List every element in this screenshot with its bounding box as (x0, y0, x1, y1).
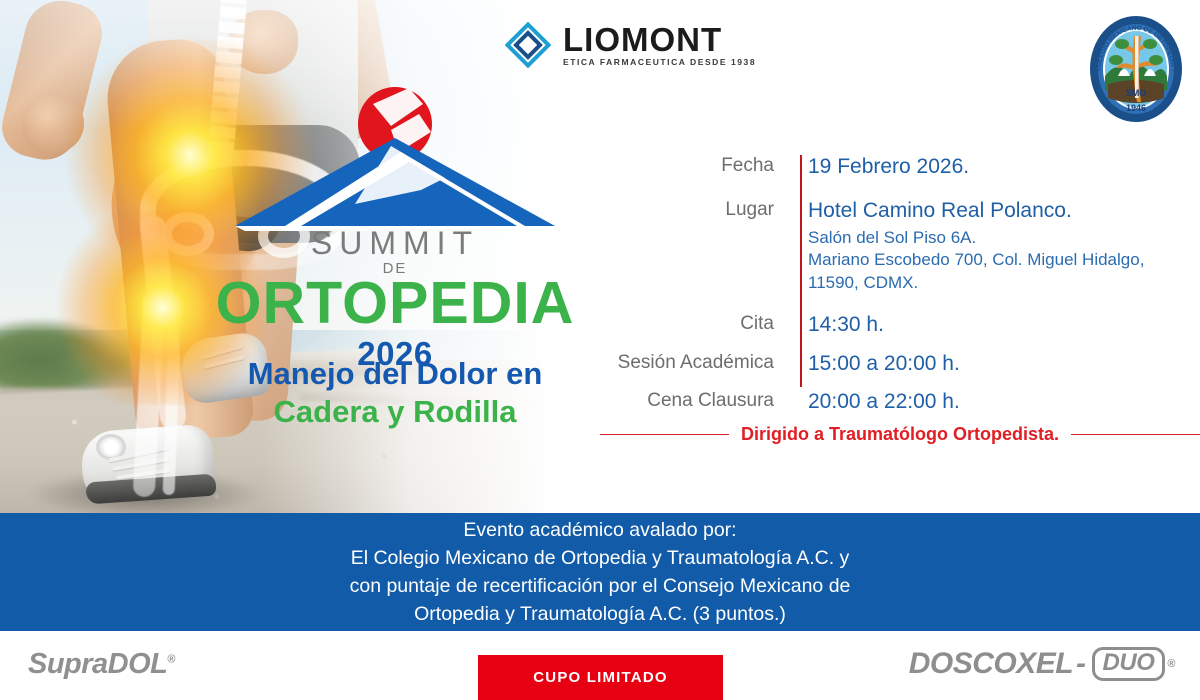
banner-line-1: Evento académico avalado por: (463, 517, 736, 543)
detail-label-sesion: Sesión Académica (600, 349, 792, 377)
supradol-registered-icon: ® (167, 653, 175, 665)
banner-line-3: con puntaje de recertificación por el Co… (350, 573, 851, 599)
detail-value-lugar: Hotel Camino Real Polanco. Salón del Sol… (792, 196, 1190, 294)
audience-rule-left (600, 434, 729, 436)
detail-row-cita: Cita 14:30 h. (600, 310, 1190, 340)
banner-line-2: El Colegio Mexicano de Ortopedia y Traum… (351, 545, 850, 571)
doscoxel-hyphen: - (1076, 647, 1086, 681)
supradol-logo: SupraDOL® (28, 648, 175, 681)
detail-label-lugar: Lugar (600, 196, 792, 224)
summit-mountain-sun-icon (195, 86, 595, 231)
endorsement-banner: Evento académico avalado por: El Colegio… (0, 513, 1200, 631)
detail-value-fecha: 19 Febrero 2026. (792, 152, 1190, 182)
doscoxel-registered-icon: ® (1167, 658, 1175, 670)
liomont-tagline: ETICA FARMACEUTICA DESDE 1938 (563, 58, 756, 67)
event-poster: LIOMONT ETICA FARMACEUTICA DESDE 1938 (0, 0, 1200, 700)
doscoxel-logo: DOSCOXEL-DUO® (909, 647, 1175, 681)
audience-rule-right (1071, 434, 1200, 436)
liomont-logo: LIOMONT ETICA FARMACEUTICA DESDE 1938 (505, 22, 756, 68)
banner-line-4: Ortopedia y Traumatología A.C. (3 puntos… (414, 601, 786, 627)
event-title-line1: Manejo del Dolor en (195, 356, 595, 392)
detail-row-lugar: Lugar Hotel Camino Real Polanco. Salón d… (600, 196, 1190, 294)
audience-line: Dirigido a Traumatólogo Ortopedista. (600, 424, 1200, 445)
liomont-diamond-icon (505, 22, 551, 68)
venue-street: Mariano Escobedo 700, Col. Miguel Hidalg… (808, 249, 1190, 271)
cmo-seal-icon: COLEGIO MEXICANO DE ORTOPEDIA Y TRAUMATO… (1088, 14, 1184, 124)
detail-value-cita: 14:30 h. (792, 310, 1190, 340)
event-details: Fecha 19 Febrero 2026. Lugar Hotel Camin… (600, 152, 1190, 422)
venue-room: Salón del Sol Piso 6A. (808, 227, 1190, 249)
summit-ortopedia: ORTOPEDIA (195, 273, 595, 333)
detail-label-cena: Cena Clausura (600, 387, 792, 415)
detail-label-fecha: Fecha (600, 152, 792, 180)
detail-value-sesion: 15:00 a 20:00 h. (792, 349, 1190, 379)
supradol-name: SupraDOL (28, 648, 167, 680)
doscoxel-name: DOSCOXEL (909, 647, 1073, 681)
event-title-line2: Cadera y Rodilla (195, 394, 595, 430)
detail-row-sesion: Sesión Académica 15:00 a 20:00 h. (600, 349, 1190, 379)
detail-label-cita: Cita (600, 310, 792, 338)
seal-initials: SMO (1126, 88, 1147, 98)
venue-name: Hotel Camino Real Polanco. (808, 196, 1190, 226)
seal-year: 1946 (1126, 103, 1146, 113)
cupo-limitado-button[interactable]: CUPO LIMITADO (478, 655, 723, 700)
doscoxel-duo-badge: DUO (1092, 647, 1166, 681)
detail-value-cena: 20:00 a 22:00 h. (792, 387, 1190, 417)
summit-logo: SUMMIT DE ORTOPEDIA 2026 (195, 86, 595, 373)
detail-row-fecha: Fecha 19 Febrero 2026. (600, 152, 1190, 182)
liomont-name: LIOMONT (563, 23, 756, 56)
venue-zip: 11590, CDMX. (808, 272, 1190, 294)
audience-text: Dirigido a Traumatólogo Ortopedista. (741, 424, 1059, 445)
detail-row-cena: Cena Clausura 20:00 a 22:00 h. (600, 387, 1190, 417)
